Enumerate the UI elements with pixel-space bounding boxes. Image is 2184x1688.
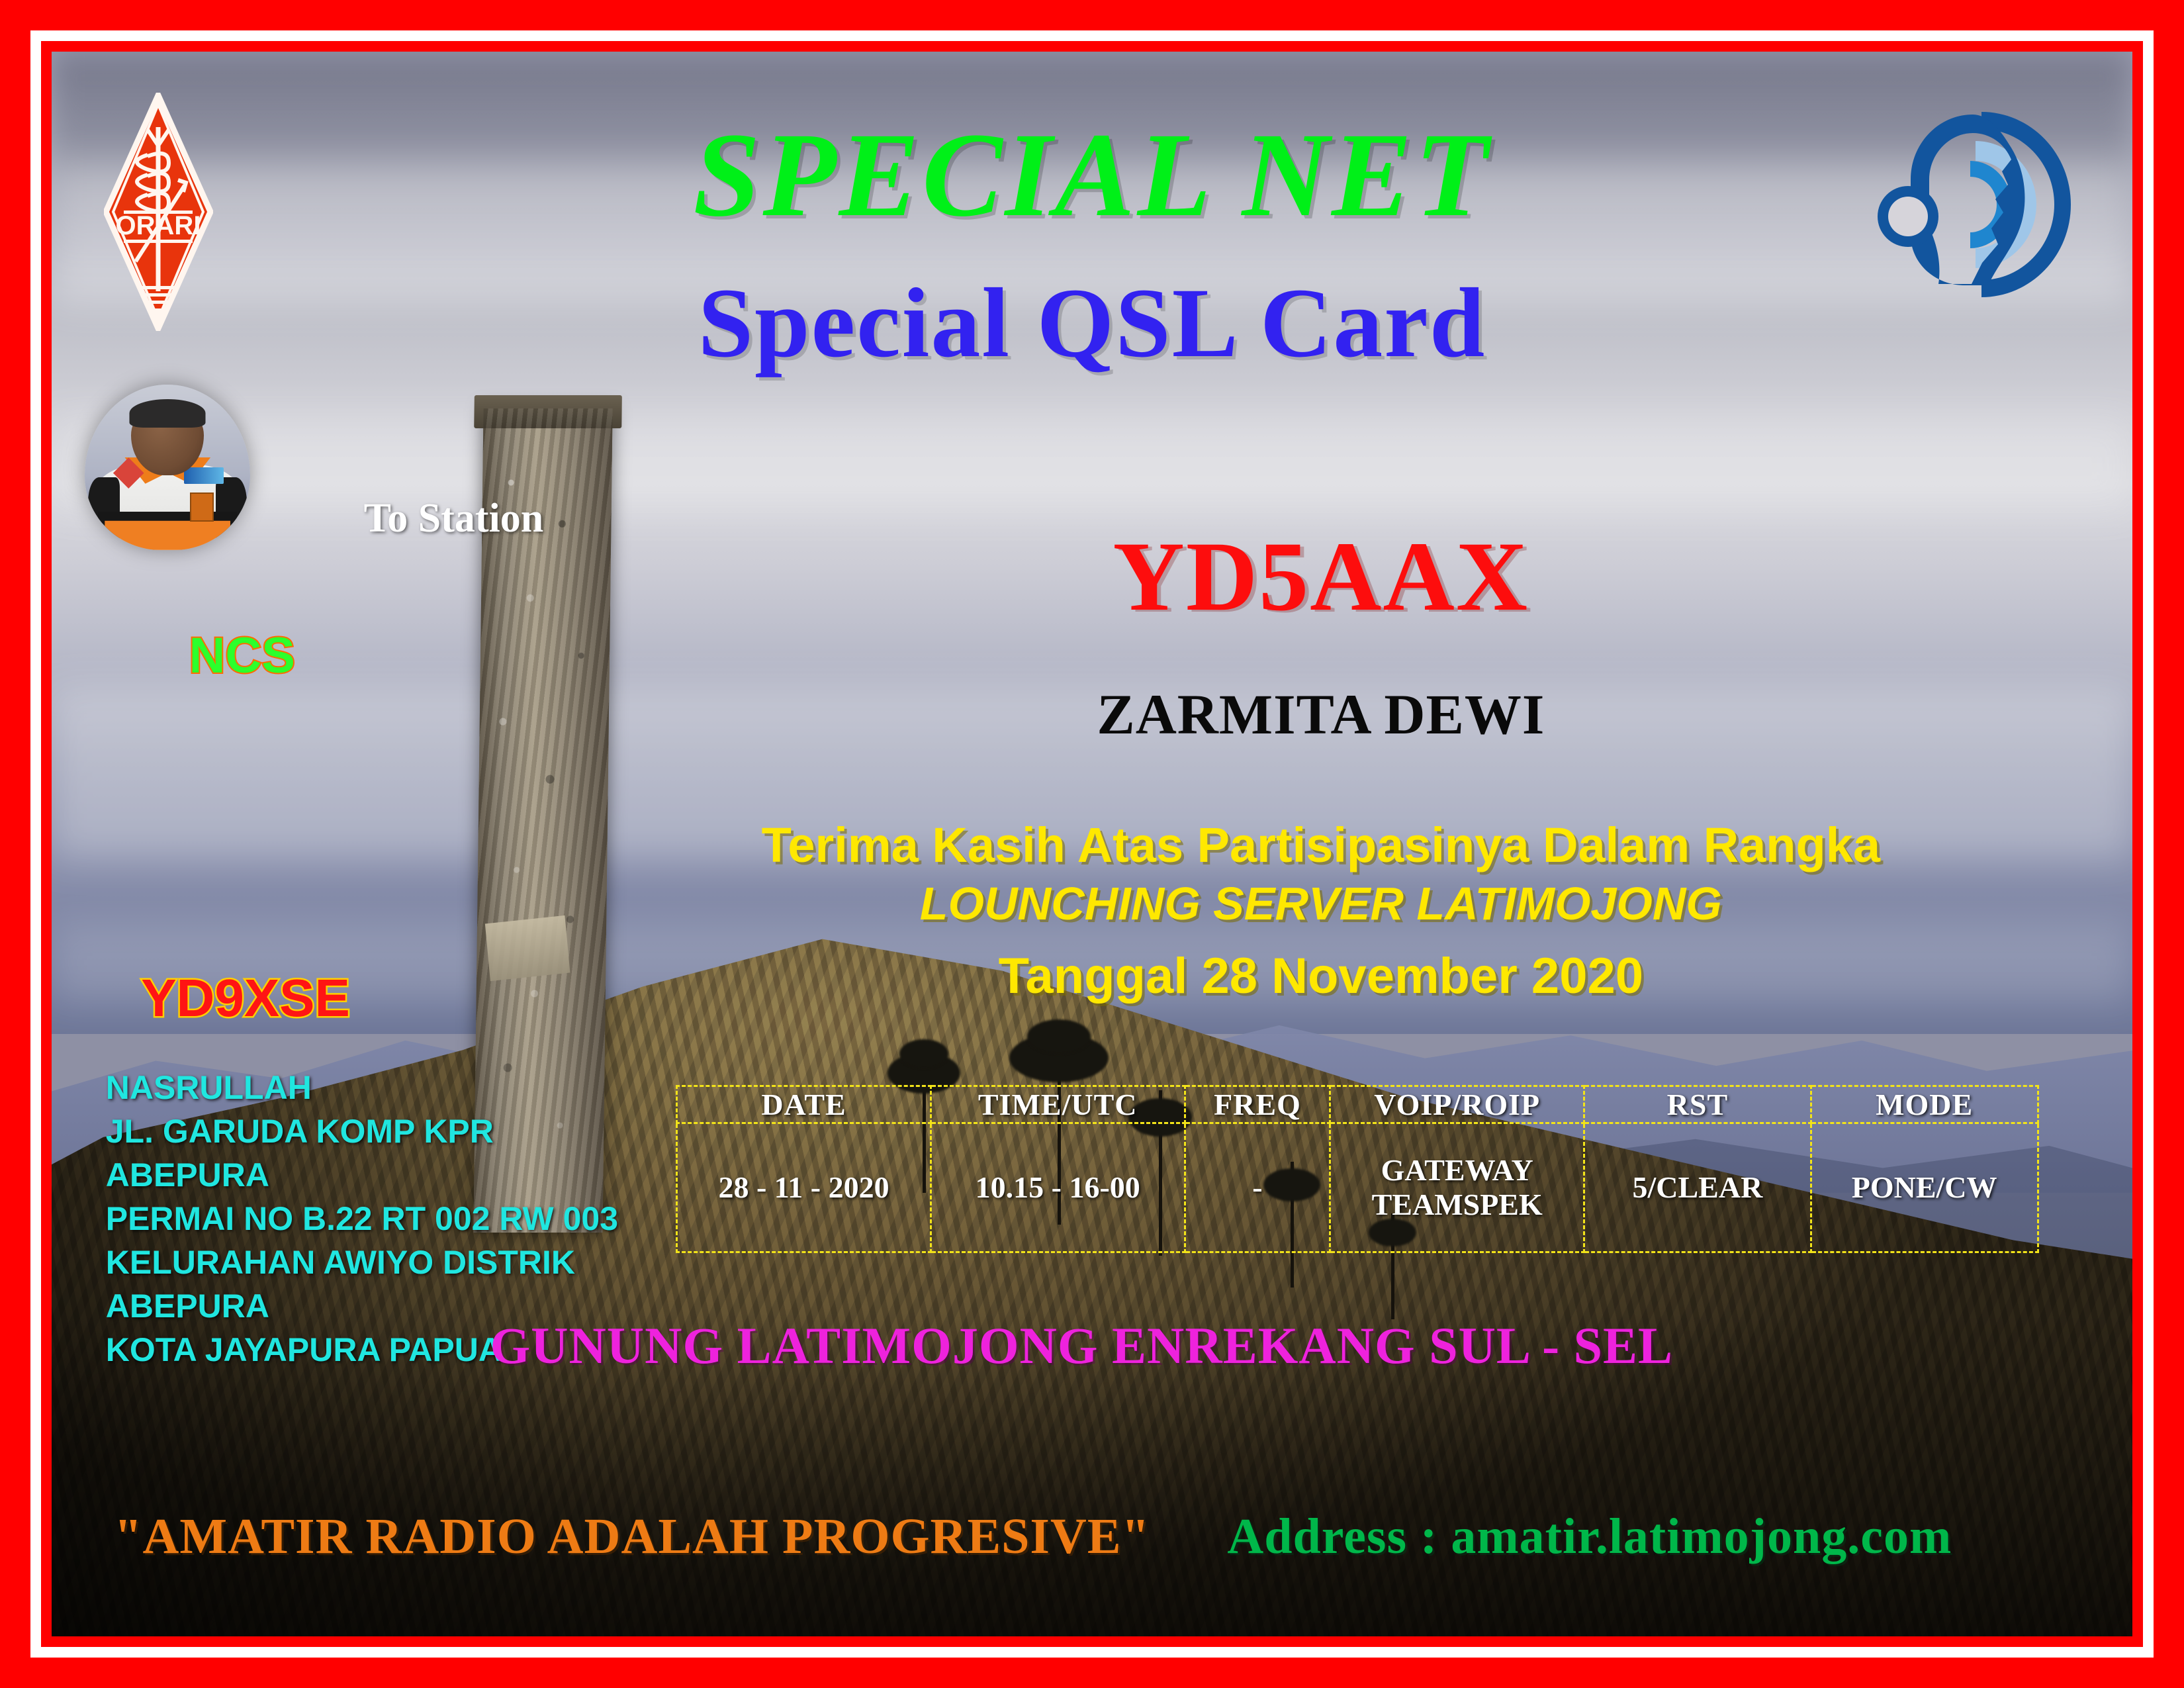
column-header-freq: FREQ <box>1185 1086 1330 1123</box>
column-header-time: TIME/UTC <box>931 1086 1185 1123</box>
table-header-row: DATE TIME/UTC FREQ VOIP/ROIP RST MODE <box>677 1086 2038 1123</box>
page-title: SPECIAL NET <box>693 115 1490 236</box>
column-header-voip: VOIP/ROIP <box>1330 1086 1584 1123</box>
orari-logo: ORARI <box>104 93 213 331</box>
address-line: ABEPURA <box>106 1153 618 1197</box>
cell-rst: 5/CLEAR <box>1584 1123 1811 1252</box>
qso-log-table: DATE TIME/UTC FREQ VOIP/ROIP RST MODE 28… <box>676 1085 2038 1253</box>
column-header-rst: RST <box>1584 1086 1811 1123</box>
location-line: GUNUNG LATIMOJONG ENREKANG SUL - SEL <box>490 1316 1673 1376</box>
qsl-card: ORARI <box>0 0 2184 1688</box>
page-subtitle: Special QSL Card <box>698 273 1486 373</box>
event-line: LOUNCHING SERVER LATIMOJONG <box>920 877 1722 930</box>
address-line: PERMAI NO B.22 RT 002 RW 003 <box>106 1197 618 1241</box>
table-row: 28 - 11 - 2020 10.15 - 16-00 - GATEWAY T… <box>677 1123 2038 1252</box>
ncs-label: NCS <box>189 627 295 684</box>
cell-freq: - <box>1185 1123 1330 1252</box>
cell-time: 10.15 - 16-00 <box>931 1123 1185 1252</box>
operator-photo <box>85 385 250 550</box>
orari-logo-text: ORARI <box>115 211 201 240</box>
to-station-label: To Station <box>364 495 544 542</box>
background-photo: ORARI <box>52 52 2132 1636</box>
recipient-name: ZARMITA DEWI <box>1097 686 1545 743</box>
ncs-callsign: YD9XSE <box>141 968 350 1029</box>
cell-mode: PONE/CW <box>1811 1123 2038 1252</box>
event-date-line: Tanggal 28 November 2020 <box>999 947 1643 1005</box>
address-line: KELURAHAN AWIYO DISTRIK <box>106 1241 618 1284</box>
motto-text: "AMATIR RADIO ADALAH PROGRESIVE" <box>114 1508 1150 1566</box>
cell-voip: GATEWAY TEAMSPEK <box>1330 1123 1584 1252</box>
thanks-line: Terima Kasih Atas Partisipasinya Dalam R… <box>762 817 1880 873</box>
address-line: JL. GARUDA KOMP KPR <box>106 1109 618 1153</box>
address-line: NASRULLAH <box>106 1066 618 1109</box>
pillar-plaque <box>484 915 569 980</box>
recipient-callsign: YD5AAX <box>1113 527 1529 626</box>
column-header-date: DATE <box>677 1086 931 1123</box>
card-white-frame: ORARI <box>30 30 2154 1658</box>
cell-date: 28 - 11 - 2020 <box>677 1123 931 1252</box>
column-header-mode: MODE <box>1811 1086 2038 1123</box>
website-address: Address : amatir.latimojong.com <box>1227 1508 1952 1566</box>
card-red-inner-frame: ORARI <box>41 41 2143 1647</box>
headset-profile-icon <box>1872 105 2091 304</box>
